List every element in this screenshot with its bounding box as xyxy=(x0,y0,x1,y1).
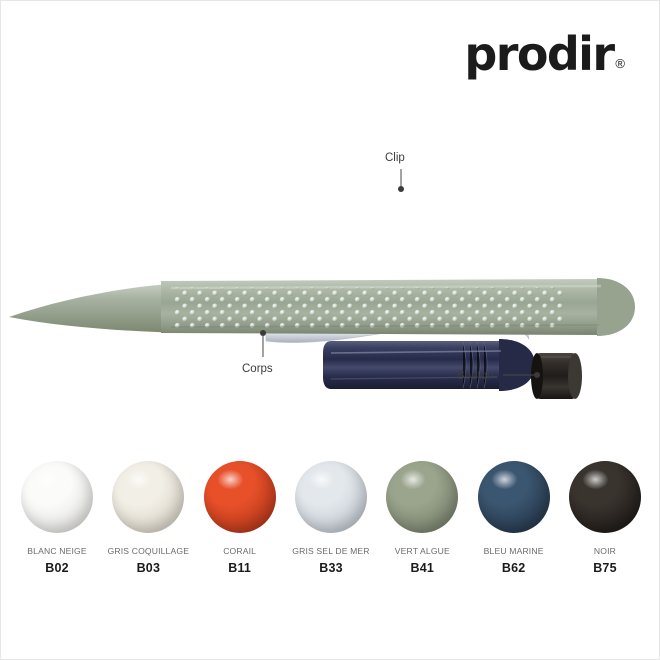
callout-clip-label: Clip xyxy=(385,152,405,164)
swatch-ball-wrap xyxy=(21,461,93,533)
pen-exploded-diagram: Clip Corps Bouton xyxy=(1,121,660,411)
swatch-name: GRIS SEL DE MER xyxy=(292,547,369,556)
callout-clip: Clip xyxy=(385,152,405,192)
swatch-b62[interactable]: BLEU MARINE B62 xyxy=(474,461,554,575)
callout-bouton-label: Bouton xyxy=(457,370,493,382)
swatch-ball-wrap xyxy=(569,461,641,533)
callout-corps-label: Corps xyxy=(242,363,273,375)
color-ball xyxy=(204,461,276,533)
swatch-ball-wrap xyxy=(386,461,458,533)
swatch-b03[interactable]: GRIS COQUILLAGE B03 xyxy=(108,461,188,575)
swatch-name: BLEU MARINE xyxy=(484,547,544,556)
swatch-ball-wrap xyxy=(478,461,550,533)
swatch-code: B62 xyxy=(502,561,526,575)
brand-wordmark: prodir xyxy=(464,31,613,77)
pen-cap-part xyxy=(323,339,535,391)
swatch-b75[interactable]: NOIR B75 xyxy=(565,461,645,575)
swatch-ball-wrap xyxy=(204,461,276,533)
swatch-b02[interactable]: BLANC NEIGE B02 xyxy=(17,461,97,575)
swatch-name: NOIR xyxy=(594,547,616,556)
swatch-name: VERT ALGUE xyxy=(395,547,450,556)
color-ball xyxy=(569,461,641,533)
color-ball xyxy=(112,461,184,533)
swatch-code: B41 xyxy=(411,561,435,575)
color-ball xyxy=(21,461,93,533)
swatch-b41[interactable]: VERT ALGUE B41 xyxy=(382,461,462,575)
registered-trademark-icon: ® xyxy=(615,57,625,70)
swatch-name: CORAIL xyxy=(223,547,256,556)
swatch-name: BLANC NEIGE xyxy=(27,547,86,556)
swatch-code: B75 xyxy=(593,561,617,575)
color-ball xyxy=(295,461,367,533)
swatch-code: B33 xyxy=(319,561,343,575)
swatch-code: B11 xyxy=(228,561,251,575)
color-ball xyxy=(386,461,458,533)
swatch-code: B02 xyxy=(45,561,69,575)
product-sheet: prodir ® xyxy=(0,0,660,660)
color-ball xyxy=(478,461,550,533)
brand-logo: prodir ® xyxy=(464,31,625,77)
pen-body-part xyxy=(9,278,635,336)
swatch-ball-wrap xyxy=(295,461,367,533)
swatch-b33[interactable]: GRIS SEL DE MER B33 xyxy=(291,461,371,575)
swatch-ball-wrap xyxy=(112,461,184,533)
swatch-b11[interactable]: CORAIL B11 xyxy=(200,461,280,575)
color-swatch-row: BLANC NEIGE B02 GRIS COQUILLAGE B03 CORA… xyxy=(1,461,660,575)
swatch-name: GRIS COQUILLAGE xyxy=(108,547,190,556)
swatch-code: B03 xyxy=(137,561,161,575)
